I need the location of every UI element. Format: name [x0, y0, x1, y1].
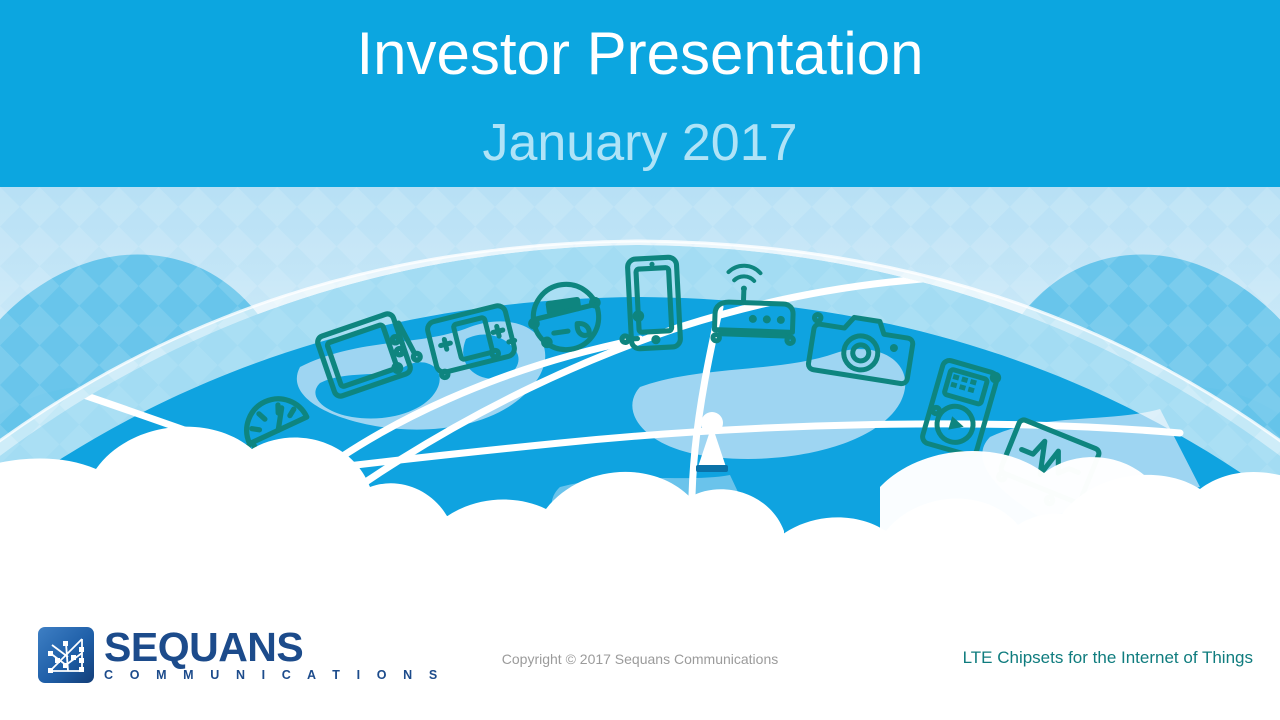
logo-subwordmark: C O M M U N I C A T I O N S — [104, 668, 444, 683]
page-title: Investor Presentation — [0, 18, 1280, 90]
page-subtitle: January 2017 — [0, 112, 1280, 174]
hero-illustration — [0, 187, 1280, 615]
slide-footer: SEQUANS C O M M U N I C A T I O N S Copy… — [0, 615, 1280, 720]
company-tagline: LTE Chipsets for the Internet of Things — [963, 648, 1253, 668]
title-banner: Investor Presentation January 2017 — [0, 0, 1280, 187]
presentation-slide: Investor Presentation January 2017 — [0, 0, 1280, 720]
